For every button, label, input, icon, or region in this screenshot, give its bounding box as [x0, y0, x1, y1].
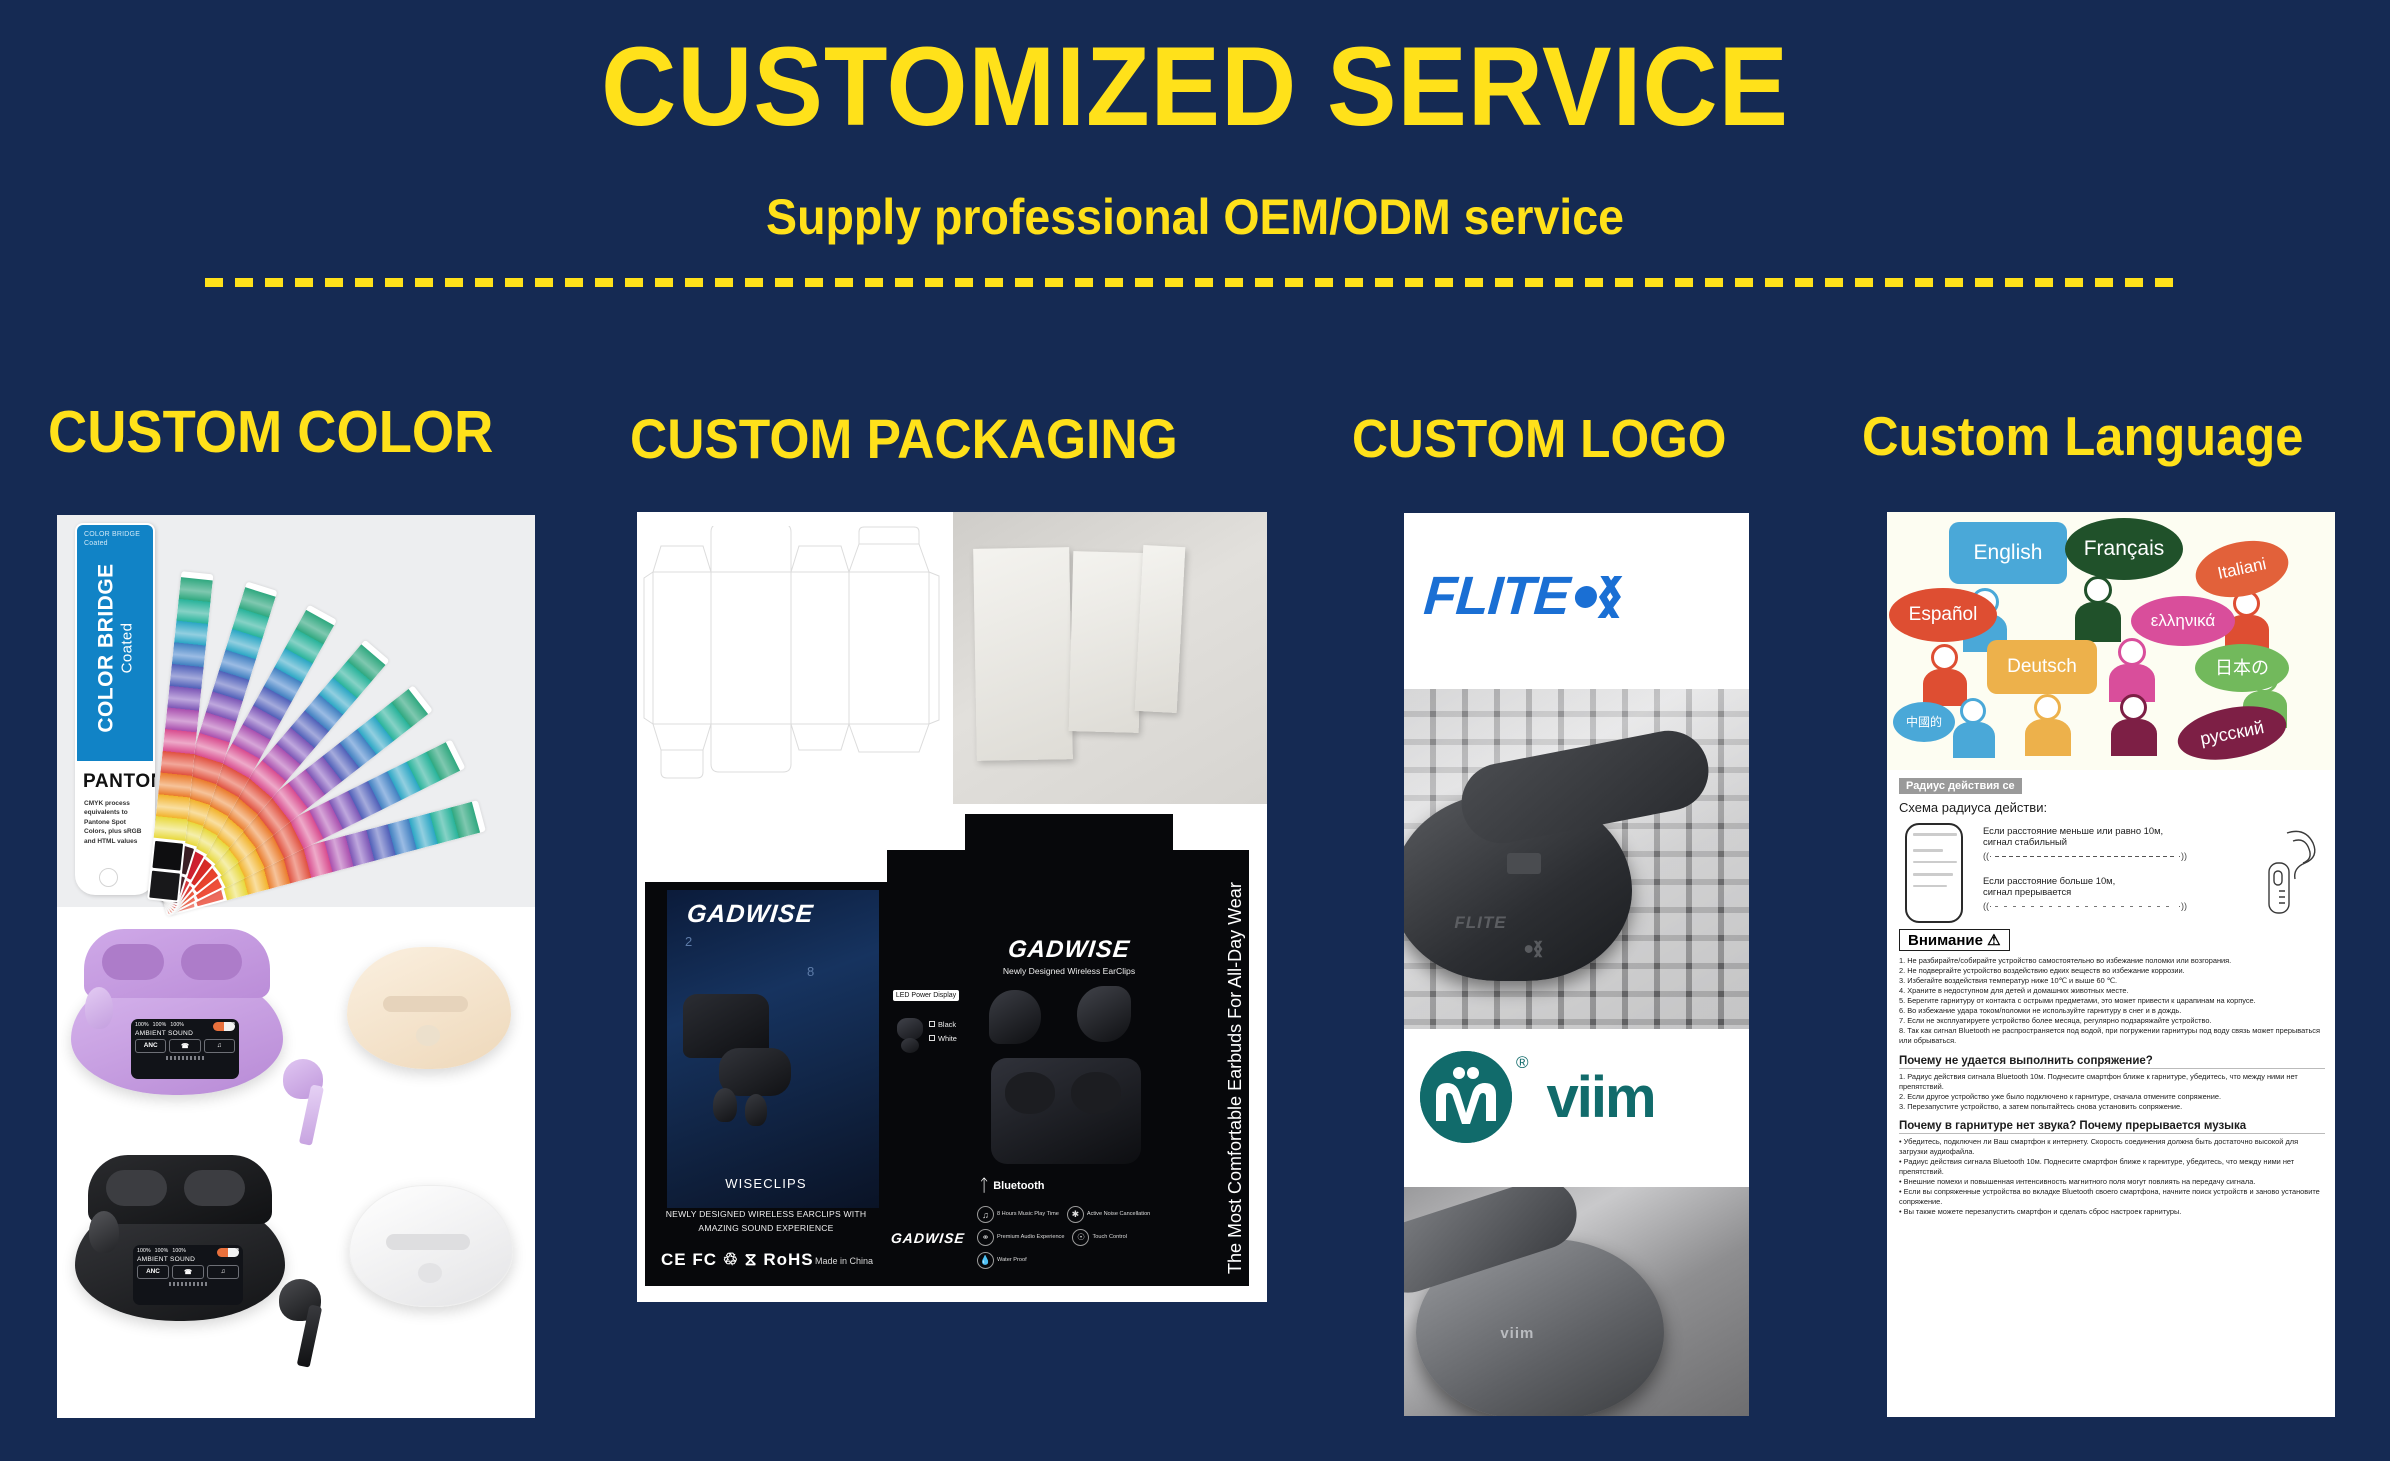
panel-custom-color: COLOR BRIDGE Coated COLOR BRIDGE Coated …	[57, 515, 535, 1418]
faq1-list: 1. Радиус действия сигнала Bluetooth 10м…	[1899, 1072, 2325, 1112]
signal-icon-right: ·))	[2178, 901, 2187, 911]
case-seam	[386, 1234, 470, 1250]
paper-sheet	[1069, 551, 1144, 733]
loose-earbud-purple	[283, 1059, 341, 1147]
person-figure	[2025, 694, 2071, 756]
range-bad-text: Если расстояние больше 10м, сигнал преры…	[1983, 875, 2187, 911]
volume-button[interactable]: ♫	[204, 1039, 235, 1053]
led-indicator	[418, 1263, 442, 1283]
bubble-chinese: 中國的	[1893, 702, 1955, 742]
faq2-item: • Внешние помехи и повышенная интенсивно…	[1899, 1177, 2325, 1187]
person-head	[2084, 576, 2112, 604]
range-bad-line1: Если расстояние больше 10м,	[1983, 875, 2187, 886]
phone-ui-line	[1913, 885, 1947, 887]
earbud-tip	[89, 1211, 119, 1253]
bubble-japanese: 日本の	[2195, 644, 2289, 692]
paper-sheet	[1135, 545, 1186, 713]
customized-service-page: CUSTOMIZED SERVICE Supply professional O…	[0, 0, 2390, 1461]
earclip-render-left	[989, 990, 1041, 1044]
box-spine-brand: GADWISE	[890, 1230, 966, 1246]
warning-list: 1. Не разбирайте/собирайте устройство са…	[1899, 956, 2325, 1046]
person-body	[2111, 719, 2157, 756]
faq2-title: Почему в гарнитуре нет звука? Почему пре…	[1899, 1120, 2325, 1134]
pantone-guide-cover: COLOR BRIDGE Coated COLOR BRIDGE Coated …	[75, 523, 155, 895]
faq1-title: Почему не удается выполнить сопряжение?	[1899, 1055, 2325, 1069]
option-black-row[interactable]: Black	[929, 1018, 957, 1032]
checkbox-white[interactable]	[929, 1035, 935, 1041]
bubble-italiani: Italiani	[2190, 533, 2293, 605]
attention-badge: Внимание ⚠	[1899, 929, 2010, 951]
product-earbud-render	[713, 1088, 737, 1122]
screen-toggle-pill[interactable]	[213, 1022, 235, 1031]
case-cavity-right	[1071, 1072, 1121, 1114]
battery-left: 100%	[137, 1248, 151, 1254]
section-heading-custom-color: CUSTOM COLOR	[48, 398, 493, 466]
case-led-screen: 100% 100% 100% 16:52 AMBIENT SOUND ANC ☎…	[133, 1245, 243, 1305]
battery-right: 100%	[153, 1022, 167, 1028]
earbud-in-case	[85, 987, 113, 1029]
viim-wordmark: viim	[1547, 1064, 1655, 1131]
bluetooth-label: Bluetooth	[993, 1180, 1044, 1192]
case-cavity-left	[1005, 1072, 1055, 1114]
noise-cancel-icon: ✱	[1067, 1206, 1084, 1223]
flite-wordmark: FLITE	[1422, 566, 1571, 626]
section-heading-custom-language: Custom Language	[1862, 404, 2303, 468]
option-black-label: Black	[938, 1020, 956, 1029]
screen-button-row: ANC ☎ ♫	[133, 1264, 243, 1280]
section-heading-custom-packaging: CUSTOM PACKAGING	[630, 406, 1178, 471]
lid-slot	[106, 1170, 167, 1206]
viim-logo-box: ® viim	[1404, 1029, 1749, 1187]
registered-mark: ®	[1516, 1053, 1529, 1073]
case-led-screen: 100% 100% 100% 16:52 AMBIENT SOUND ANC ☎…	[131, 1019, 239, 1079]
flite-logo-box: FLITE	[1404, 513, 1749, 689]
blade-swatch	[152, 841, 183, 871]
checkbox-black[interactable]	[929, 1021, 935, 1027]
person-figure	[1953, 698, 1995, 758]
screen-button-row: ANC ☎ ♫	[131, 1038, 239, 1054]
feature-item: ♫8 Hours Music Play Time	[977, 1206, 1059, 1223]
warning-item: 8. Так как сигнал Bluetooth не распростр…	[1899, 1026, 2325, 1046]
spine-product-thumb-2	[901, 1038, 919, 1053]
feature-label: 8 Hours Music Play Time	[997, 1211, 1059, 1218]
warning-item: 5. Берегите гарнитуру от контакта с остр…	[1899, 996, 2325, 1006]
pantone-brand-text: PANTONE	[83, 771, 155, 792]
warning-item: 1. Не разбирайте/собирайте устройство са…	[1899, 956, 2325, 966]
range-diagram: Если расстояние меньше или равно 10м, си…	[1899, 819, 2325, 927]
languages-illustration: English Français Italiani Español ελληνι…	[1887, 512, 2335, 770]
flite-product-photo: FLITE	[1404, 689, 1749, 1029]
bubble-francais: Français	[2065, 518, 2183, 580]
box-front-origin: Made in China	[815, 1256, 873, 1266]
arrow-line-broken	[1995, 906, 2175, 907]
feature-item: ✱Active Noise Cancellation	[1067, 1206, 1150, 1223]
battery-right: 100%	[155, 1248, 169, 1254]
tab-small-text: COLOR BRIDGE Coated	[84, 531, 140, 549]
music-note-icon: ♫	[977, 1206, 994, 1223]
viim-product-photo: viim	[1404, 1187, 1749, 1416]
pantone-caption: CMYK process equivalents to Pantone Spot…	[84, 799, 148, 846]
range-bad-arrow: ((· ·))	[1983, 901, 2187, 911]
circle-x-mark-icon	[1567, 574, 1626, 620]
option-white-label: White	[938, 1034, 957, 1043]
earclip-render-right	[1077, 986, 1131, 1042]
faq2-item: • Вы также можете перезапустить смартфон…	[1899, 1207, 2325, 1217]
anc-button[interactable]: ANC	[135, 1039, 166, 1053]
signal-icon-left: ((·	[1983, 851, 1992, 861]
tab-title: COLOR BRIDGE	[95, 563, 119, 732]
bubble-deutsch: Deutsch	[1987, 640, 2097, 694]
screen-dots	[131, 1054, 239, 1060]
bubble-espanol: Español	[1889, 588, 1997, 642]
lid-slot	[102, 944, 164, 980]
box-spine-face: LED Power Display Black White GADWISE	[887, 850, 965, 1286]
feature-item: ⚭Premium Audio Experience	[977, 1229, 1064, 1246]
phone-ui-line	[1913, 861, 1957, 863]
feature-icon-grid: ♫8 Hours Music Play Time ✱Active Noise C…	[977, 1206, 1165, 1269]
phone-illustration	[1905, 823, 1963, 923]
range-ok-line2: сигнал стабильный	[1983, 836, 2187, 847]
faq2-item: • Радиус действия сигнала Bluetooth 10м.…	[1899, 1157, 2325, 1177]
warning-item: 4. Храните в недоступном для детей и дом…	[1899, 986, 2325, 996]
person-figure	[1923, 644, 1967, 706]
charging-case-render	[991, 1058, 1141, 1164]
battery-left: 100%	[135, 1022, 149, 1028]
color-bridge-tab: COLOR BRIDGE Coated COLOR BRIDGE Coated	[77, 525, 153, 761]
screen-toggle-pill[interactable]	[217, 1248, 239, 1257]
person-head	[2118, 638, 2146, 666]
manual-text-area: Радиус действия се Схема радиуса действи…	[1887, 770, 2335, 1417]
panel-custom-packaging: 2 8 GADWISE WISECLIPS NEWLY DESIGNED WIR…	[637, 512, 1267, 1302]
tab-small-line1: COLOR BRIDGE	[84, 531, 140, 538]
feature-label: Premium Audio Experience	[997, 1234, 1064, 1241]
faq2-item: • Убедитесь, подключен ли Ваш смартфон к…	[1899, 1137, 2325, 1157]
earbud-in-case	[89, 1211, 119, 1253]
call-button[interactable]: ☎	[169, 1039, 200, 1053]
person-figure	[2075, 576, 2121, 642]
lid-slot	[181, 944, 243, 980]
box-front-brand: GADWISE	[685, 900, 815, 929]
tagline-line1: NEWLY DESIGNED WIRELESS EARCLIPS WITH	[666, 1209, 866, 1219]
tagline-line2: AMAZING SOUND EXPERIENCE	[698, 1223, 833, 1233]
dashed-divider	[205, 278, 2185, 287]
tab-vertical-title: COLOR BRIDGE Coated	[95, 563, 136, 732]
page-subtitle: Supply professional OEM/ODM service	[84, 188, 2307, 246]
water-drop-icon: 💧	[977, 1252, 994, 1269]
box-dieline-drawing	[643, 526, 947, 794]
pantone-wordmark: PANTONE®	[83, 771, 155, 793]
warning-item: 2. Не подвергайте устройство воздействию…	[1899, 966, 2325, 976]
faq2-list: • Убедитесь, подключен ли Ваш смартфон к…	[1899, 1137, 2325, 1217]
anc-button[interactable]: ANC	[137, 1265, 169, 1279]
warning-item: 3. Избегайте воздействия температур ниже…	[1899, 976, 2325, 986]
person-head	[2120, 694, 2147, 721]
call-button[interactable]: ☎	[172, 1265, 204, 1279]
warning-item: 6. Во избежание удара током/поломки не и…	[1899, 1006, 2325, 1016]
premium-audio-ear-icon: ⚭	[977, 1229, 994, 1246]
person-head	[1960, 698, 1986, 724]
loose-earbud-black	[279, 1279, 339, 1371]
bluetooth-icon: ᛏ	[979, 1176, 989, 1196]
case-purple: 100% 100% 100% 16:52 AMBIENT SOUND ANC ☎…	[71, 971, 283, 1095]
spine-product-thumb	[897, 1018, 923, 1040]
case-beige	[347, 947, 511, 1069]
feature-item: 💧Water Proof	[977, 1252, 1027, 1269]
person-head	[1931, 644, 1958, 671]
screen-dots	[133, 1280, 243, 1286]
earbud-colors-photo: 100% 100% 100% 16:52 AMBIENT SOUND ANC ☎…	[57, 907, 535, 1418]
pantone-fan-deck-photo: COLOR BRIDGE Coated COLOR BRIDGE Coated …	[57, 515, 535, 907]
bg-number-2: 2	[685, 934, 692, 949]
bluetooth-badge: ᛏ Bluetooth	[979, 1176, 1045, 1196]
option-white-row[interactable]: White	[929, 1032, 957, 1046]
case-white	[349, 1185, 513, 1307]
fan-rivet-hole	[99, 868, 118, 887]
box-side-face: The Most Comfortable Earbuds For All-Day…	[1173, 850, 1249, 1286]
phone-ui-line	[1913, 833, 1957, 836]
flite-emboss-mark	[1522, 940, 1544, 960]
tab-subtitle: Coated	[119, 563, 136, 732]
faq1-item: 3. Перезапустите устройство, а затем поп…	[1899, 1102, 2325, 1112]
range-ok-line1: Если расстояние меньше или равно 10м,	[1983, 825, 2187, 836]
range-ok-arrow: ((· ·))	[1983, 851, 2187, 861]
case-black: 100% 100% 100% 16:52 AMBIENT SOUND ANC ☎…	[75, 1197, 285, 1321]
signal-icon-left: ((·	[1983, 901, 1992, 911]
person-figure	[2111, 694, 2157, 756]
person-figure	[2109, 638, 2155, 702]
case-seam	[383, 996, 468, 1012]
box-back-brand: GADWISE	[964, 936, 1175, 964]
phone-ui-line	[1913, 873, 1953, 876]
blank-carton-photo	[953, 512, 1267, 804]
feature-label: Water Proof	[997, 1257, 1027, 1264]
viim-circle-mark-icon	[1420, 1051, 1512, 1143]
box-back-subtitle: Newly Designed Wireless EarClips	[965, 966, 1173, 976]
feature-label: Touch Control	[1092, 1234, 1127, 1241]
box-front-model: WISECLIPS	[645, 1176, 887, 1191]
paper-sheet	[973, 547, 1073, 761]
box-front-tagline: NEWLY DESIGNED WIRELESS EARCLIPS WITH AM…	[653, 1208, 879, 1236]
led-power-display-callout: LED Power Display	[893, 990, 959, 1001]
page-title: CUSTOMIZED SERVICE	[84, 28, 2307, 146]
panel-custom-language: English Français Italiani Español ελληνι…	[1887, 512, 2335, 1417]
person-body	[2025, 719, 2071, 756]
signal-icon-right: ·))	[2178, 851, 2187, 861]
lid-slot	[184, 1170, 245, 1206]
case-button	[1507, 853, 1541, 874]
volume-button[interactable]: ♫	[207, 1265, 239, 1279]
warning-item: 7. Если не эксплуатируете устройство бол…	[1899, 1016, 2325, 1026]
flite-logo: FLITE	[1422, 565, 1627, 627]
earbud-tip	[85, 987, 113, 1029]
person-body	[2075, 602, 2121, 642]
viim-emboss: viim	[1500, 1325, 1534, 1342]
box-front-certs: CE FC ♲ ⧖ RoHS	[661, 1250, 814, 1270]
box-front-face: 2 8 GADWISE WISECLIPS NEWLY DESIGNED WIR…	[645, 882, 887, 1286]
battery-case: 100%	[172, 1248, 186, 1254]
faq2-item: • Если вы сопряженные устройства во вкла…	[1899, 1187, 2325, 1207]
feature-item: ☉Touch Control	[1072, 1229, 1127, 1246]
blade-swatch	[149, 871, 180, 901]
tab-small-line2: Coated	[84, 540, 108, 547]
led-indicator	[416, 1025, 441, 1046]
color-option-list: Black White	[929, 1018, 957, 1046]
diagram-title: Схема радиуса действи:	[1899, 800, 2325, 815]
packaging-dieline-row	[637, 512, 1267, 804]
bubble-english: English	[1949, 522, 2067, 584]
panel-custom-logo: FLITE FLITE	[1404, 513, 1749, 1416]
range-ok-text: Если расстояние меньше или равно 10м, си…	[1983, 825, 2187, 861]
person-head	[2034, 694, 2061, 721]
viim-logo: ® viim	[1420, 1051, 1655, 1143]
range-bad-line2: сигнал прерывается	[1983, 886, 2187, 897]
flite-emboss: FLITE	[1454, 913, 1506, 933]
faq1-item: 2. Если другое устройство уже было подкл…	[1899, 1092, 2325, 1102]
section-heading-custom-logo: CUSTOM LOGO	[1352, 408, 1726, 470]
faq1-item: 1. Радиус действия сигнала Bluetooth 10м…	[1899, 1072, 2325, 1092]
feature-label: Active Noise Cancellation	[1087, 1211, 1150, 1218]
arrow-line	[1995, 856, 2175, 857]
printed-box-dieline: 2 8 GADWISE WISECLIPS NEWLY DESIGNED WIR…	[637, 804, 1267, 1302]
phone-ui-line	[1913, 849, 1943, 852]
range-section-bar: Радиус действия се	[1899, 778, 2022, 794]
box-side-claim: The Most Comfortable Earbuds For All-Day…	[1225, 882, 1246, 1274]
battery-case: 100%	[170, 1022, 184, 1028]
ear-hook-illustration	[2253, 823, 2323, 923]
person-body	[1953, 722, 1995, 758]
touch-control-icon: ☉	[1072, 1229, 1089, 1246]
product-earbud-render-2	[745, 1094, 767, 1126]
bubble-greek: ελληνικά	[2131, 596, 2235, 646]
bg-number-8: 8	[807, 964, 814, 979]
box-back-face: GADWISE Newly Designed Wireless EarClips…	[965, 814, 1173, 1286]
